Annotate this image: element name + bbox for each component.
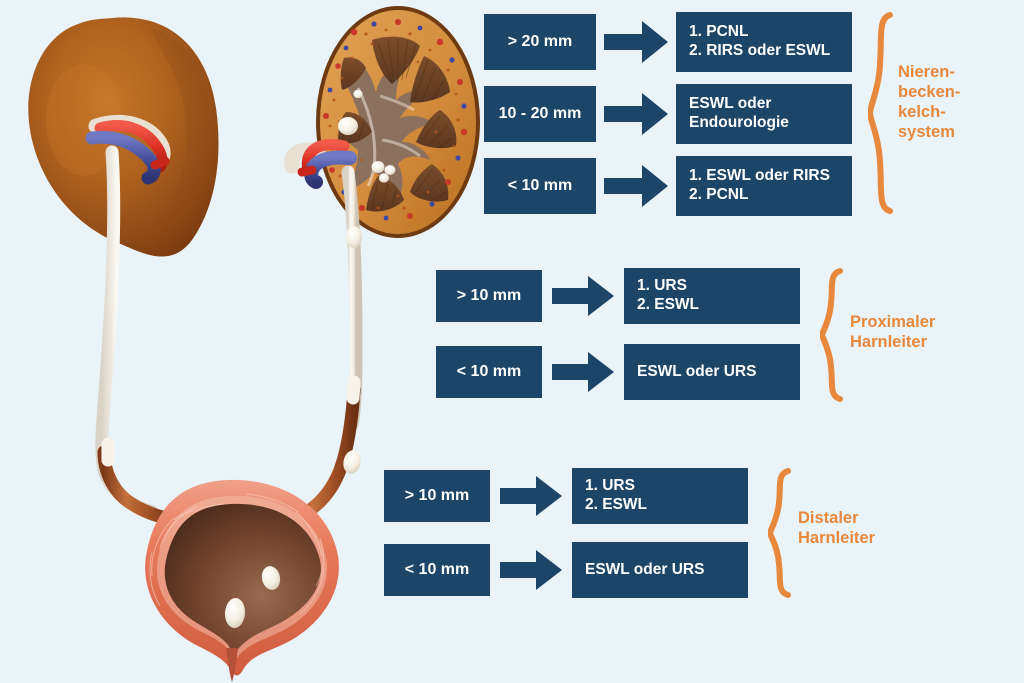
group-label-line: Harnleiter [798,528,875,548]
group-brace-icon [768,468,792,598]
table-row: > 10 mm 1. URS 2. ESWL [384,468,748,524]
treatment-line: ESWL oder URS [585,561,704,580]
treatment-line: 1. URS [585,477,635,496]
treatment-line: 2. ESWL [585,496,647,515]
flow-arrow-icon [500,550,562,590]
group-label-line: Distaler [798,508,875,528]
stone-size-label: < 10 mm [405,560,469,580]
flow-arrow-icon [500,476,562,516]
stone-size-label: > 10 mm [405,486,469,506]
stone-size-badge[interactable]: < 10 mm [384,544,490,596]
group-label: Distaler Harnleiter [798,508,875,548]
treatment-box[interactable]: 1. URS 2. ESWL [572,468,748,524]
table-row: < 10 mm ESWL oder URS [384,542,748,598]
treatment-box[interactable]: ESWL oder URS [572,542,748,598]
stone-size-badge[interactable]: > 10 mm [384,470,490,522]
group-distaler-harnleiter: > 10 mm 1. URS 2. ESWL < 10 mm [0,0,1024,683]
diagram-canvas: > 20 mm 1. PCNL 2. RIRS oder ESWL 10 - 2… [0,0,1024,683]
